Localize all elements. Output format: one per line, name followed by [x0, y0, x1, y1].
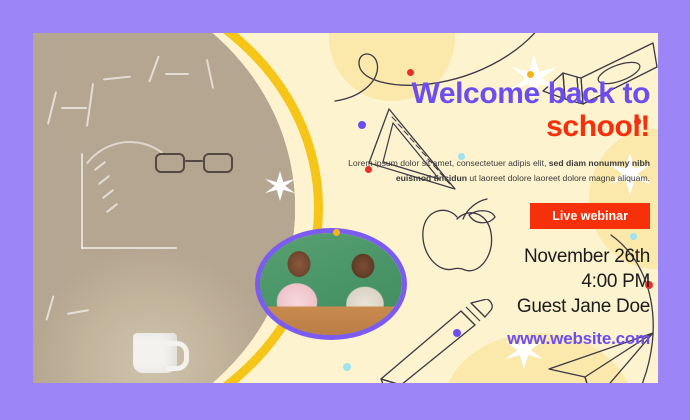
website-link[interactable]: www.website.com [320, 329, 650, 349]
content-panel: Welcome back to school! Lorem ipsum dolo… [320, 77, 650, 349]
body-copy-part-2: ut laoreet dolore laoreet dolore magna a… [467, 173, 650, 183]
glasses-icon [155, 153, 233, 173]
event-details: November 26th 4:00 PM Guest Jane Doe [320, 244, 650, 319]
event-guest: Guest Jane Doe [320, 294, 650, 319]
coffee-mug [133, 333, 177, 373]
body-copy: Lorem ipsum dolor sit amet, consectetuer… [320, 156, 650, 187]
event-time: 4:00 PM [320, 269, 650, 294]
page-title: Welcome back to school! [320, 77, 650, 143]
welcome-back-to-school-banner: Welcome back to school! Lorem ipsum dolo… [0, 0, 690, 420]
body-copy-part-1: Lorem ipsum dolor sit amet, consectetuer… [348, 158, 549, 168]
headline-line-2: school! [320, 110, 650, 143]
accent-dot-red [407, 69, 414, 76]
accent-dot-cyan [343, 363, 351, 371]
event-date: November 26th [320, 244, 650, 269]
headline-line-1: Welcome back to [411, 77, 650, 110]
cta-row: Live webinar [320, 203, 650, 229]
live-webinar-button[interactable]: Live webinar [530, 203, 650, 229]
banner-canvas: Welcome back to school! Lorem ipsum dolo… [33, 33, 658, 383]
